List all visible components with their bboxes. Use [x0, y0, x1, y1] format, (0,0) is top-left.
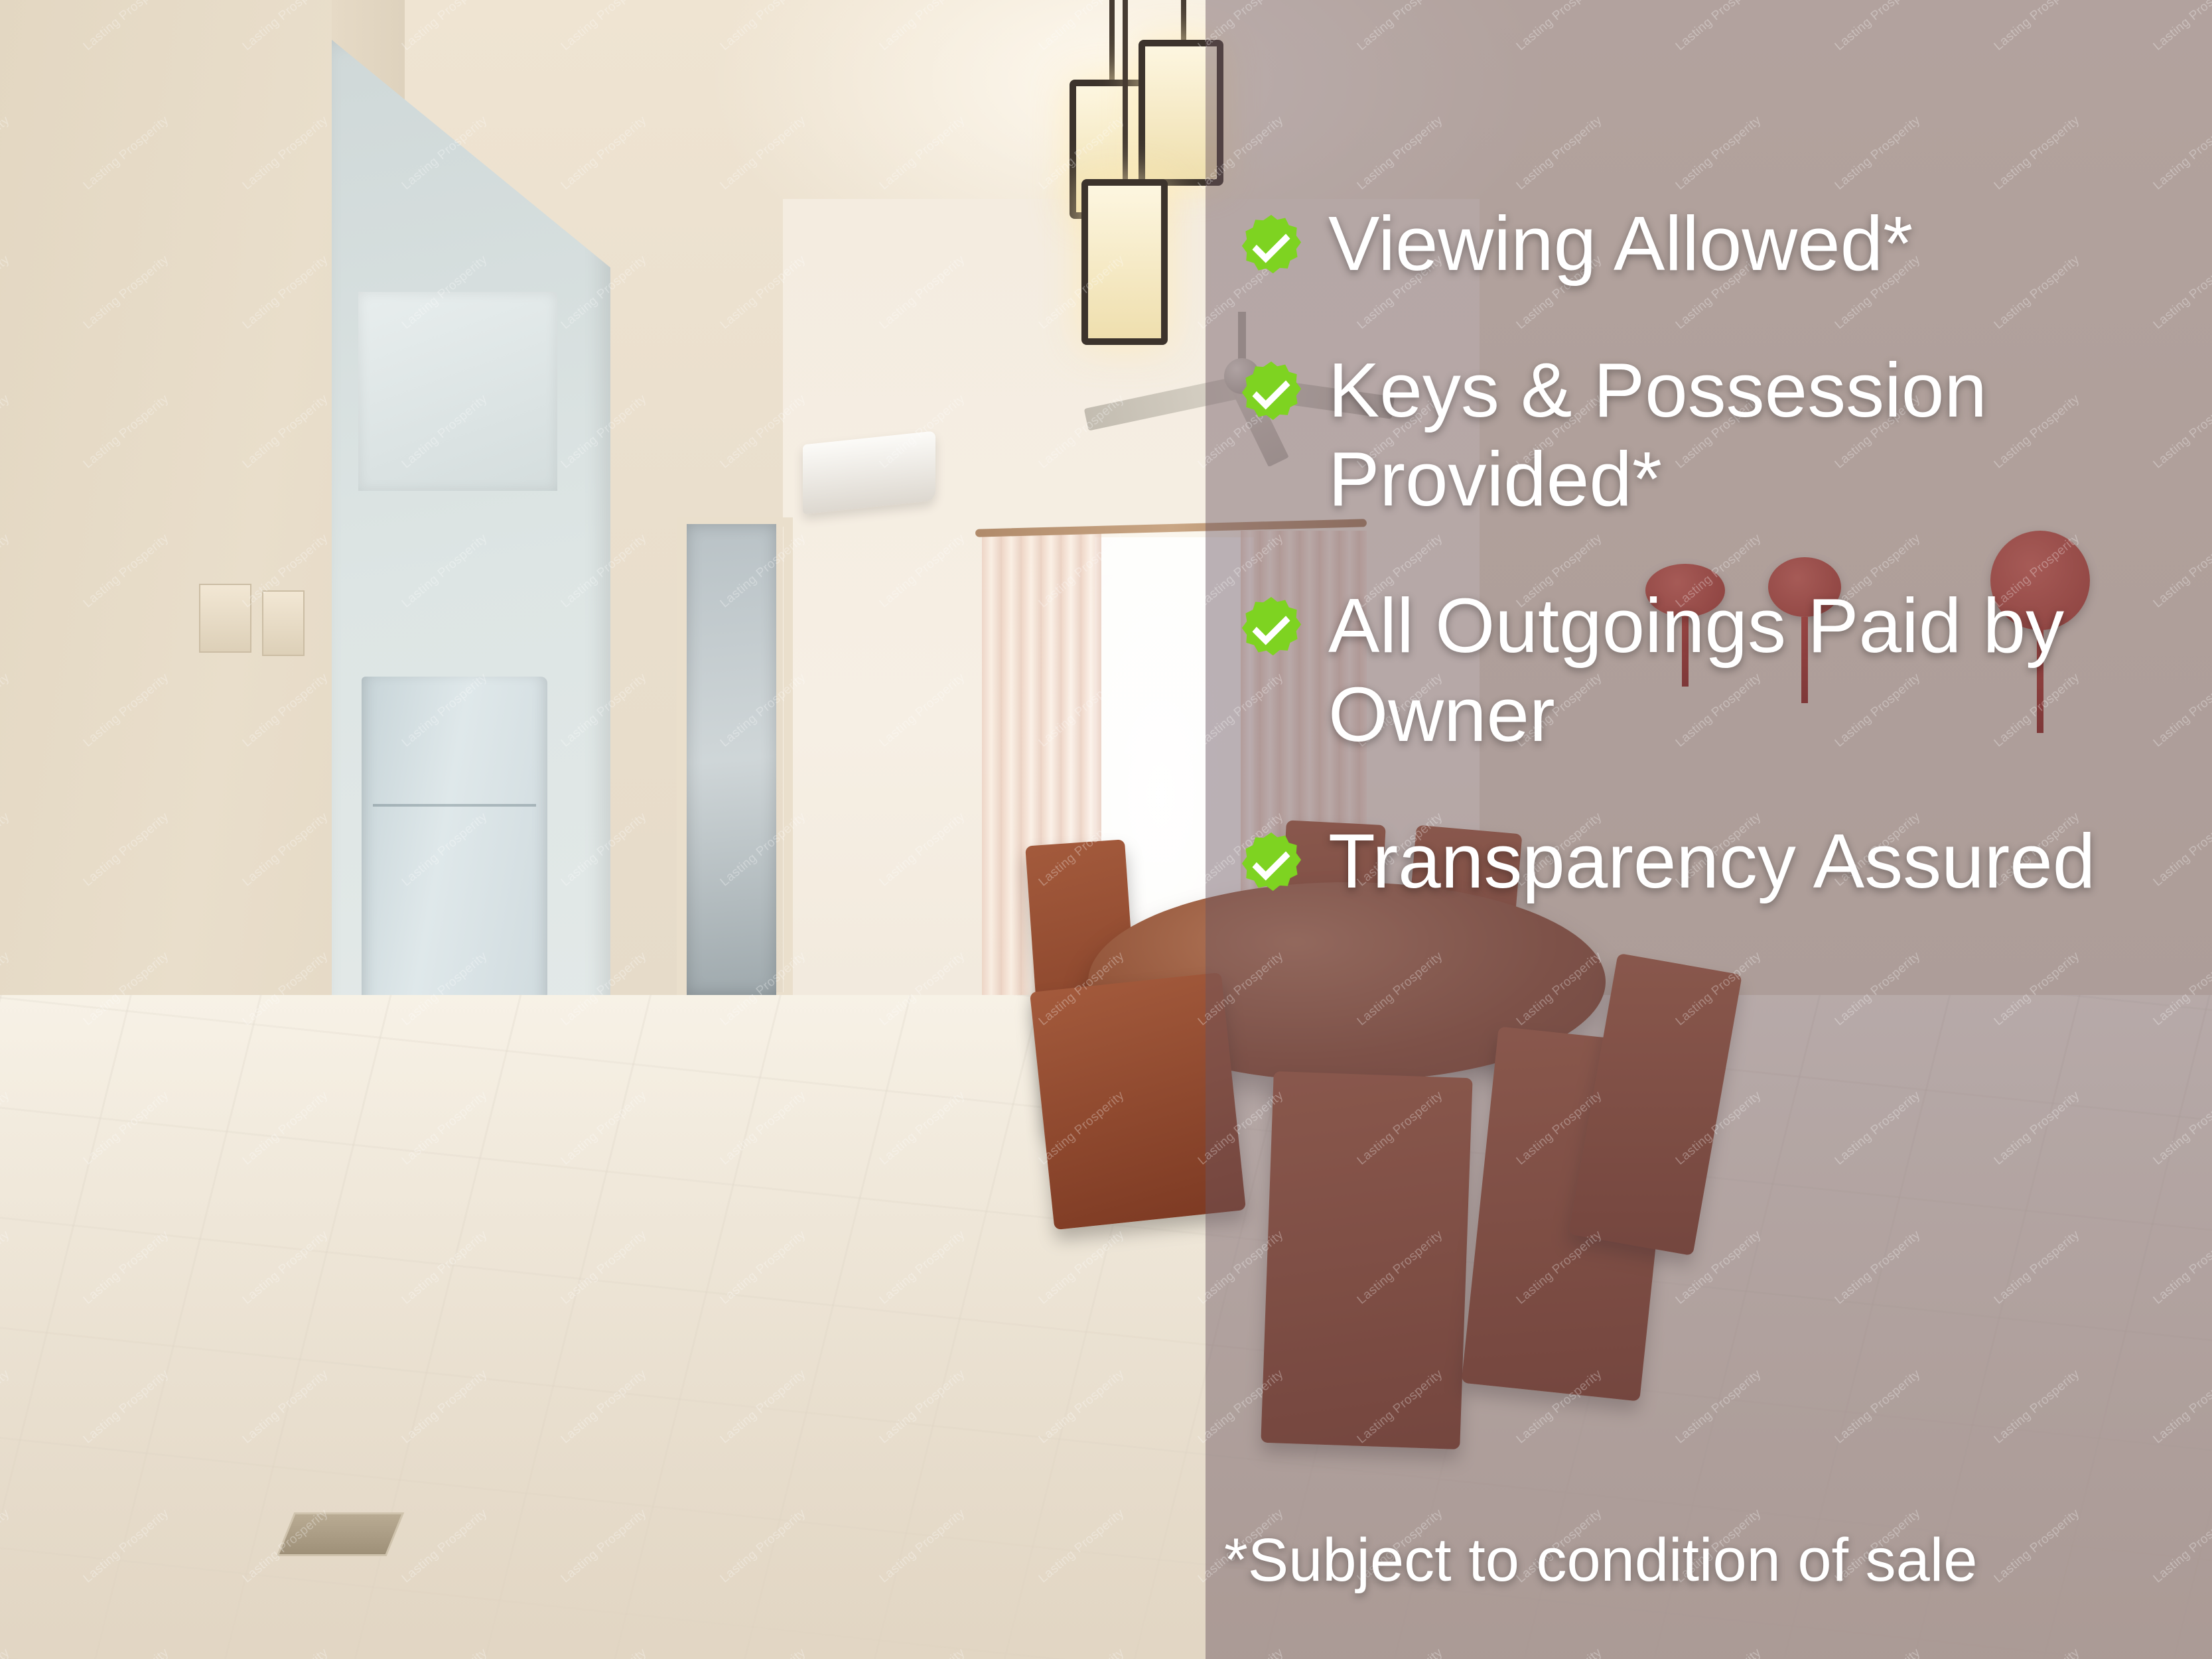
promo-image: Lasting ProsperityLasting ProsperityLast…: [0, 0, 2212, 1659]
feature-label: Keys & Possession Provided*: [1328, 346, 2183, 524]
feature-label: Viewing Allowed*: [1328, 199, 1913, 289]
wall-switch: [262, 590, 305, 656]
feature-label: All Outgoings Paid by Owner: [1328, 581, 2183, 760]
pendant-cord: [1181, 0, 1186, 40]
feature-item: Viewing Allowed*: [1241, 199, 2183, 289]
pendant-cord: [1123, 0, 1128, 192]
feature-item: All Outgoings Paid by Owner: [1241, 581, 2183, 760]
feature-item: Transparency Assured: [1241, 817, 2183, 906]
check-badge-icon: [1241, 596, 1302, 657]
check-badge-icon: [1241, 214, 1302, 275]
wall-switch: [199, 584, 251, 653]
pendant-cord: [1109, 0, 1115, 80]
feature-item: Keys & Possession Provided*: [1241, 346, 2183, 524]
kitchen-cabinet: [358, 292, 557, 491]
interior-doorway: [687, 524, 776, 995]
feature-list: Viewing Allowed* Keys & Possession Provi…: [1241, 199, 2183, 962]
footnote-text: *Subject to condition of sale: [1224, 1526, 2186, 1595]
check-badge-icon: [1241, 360, 1302, 421]
check-badge-icon: [1241, 831, 1302, 892]
floor-trap: [277, 1512, 405, 1556]
air-conditioner: [803, 431, 935, 514]
feature-label: Transparency Assured: [1328, 817, 2095, 906]
pendant-lamp: [1081, 179, 1168, 345]
